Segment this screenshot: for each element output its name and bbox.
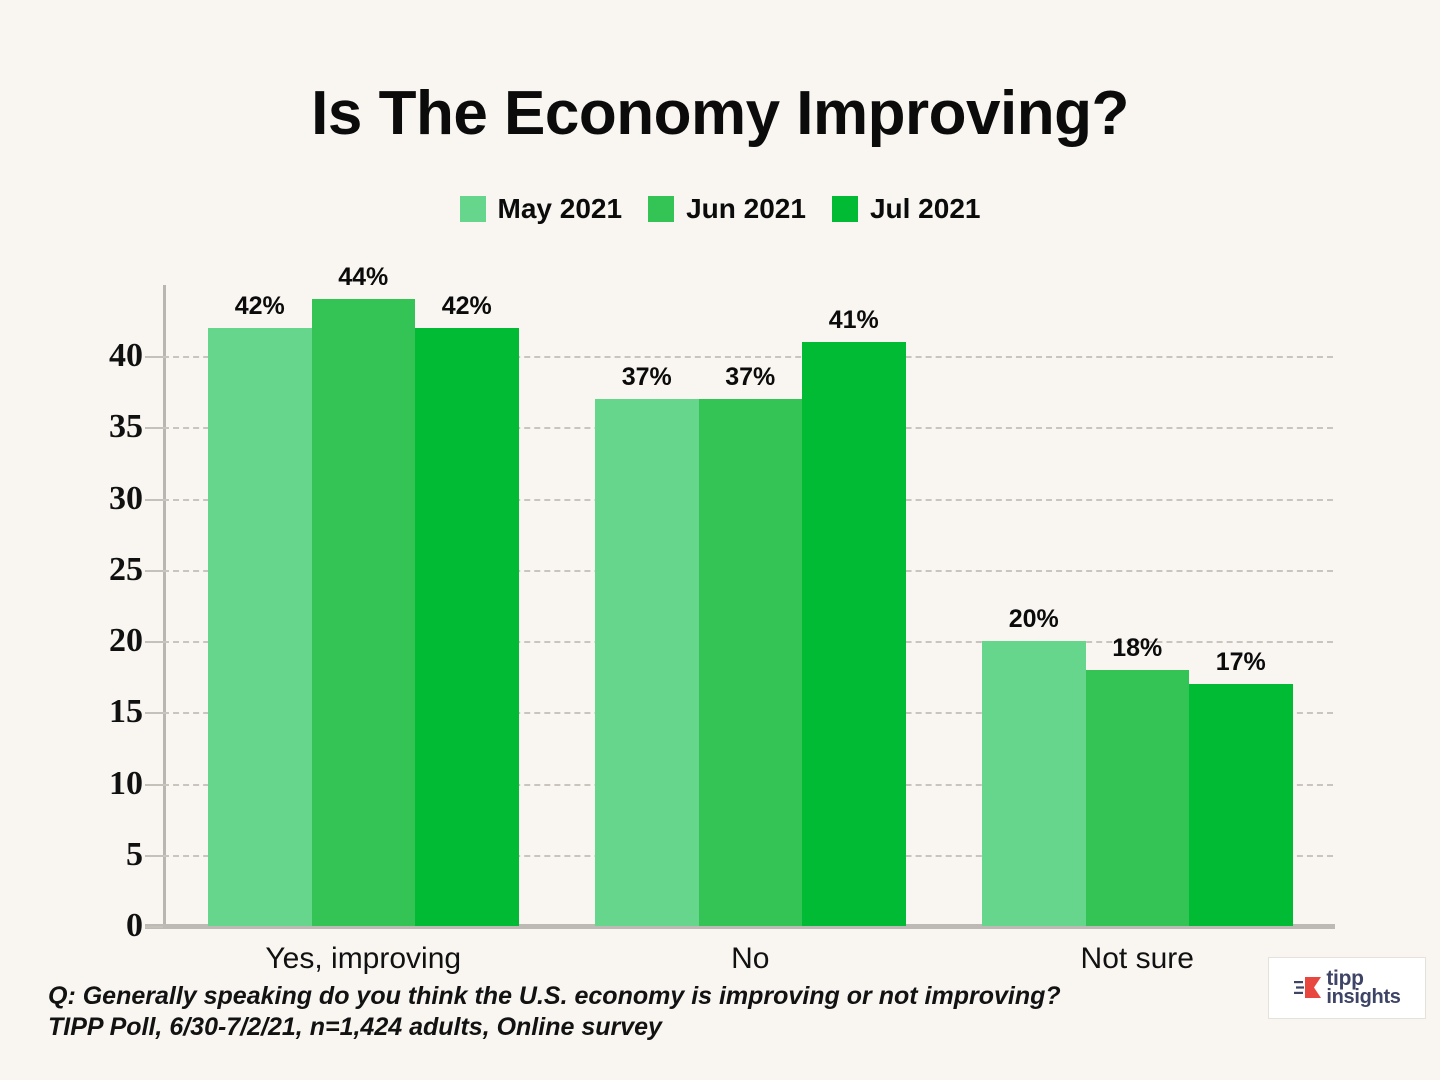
y-axis-tick-mark	[145, 855, 163, 857]
legend-swatch-icon	[460, 196, 486, 222]
tipp-arrow-flag-icon	[1293, 975, 1323, 1001]
bar-value-label: 41%	[829, 306, 879, 335]
footnote-source: TIPP Poll, 6/30-7/2/21, n=1,424 adults, …	[48, 1012, 1228, 1043]
y-axis-tick-label: 40	[23, 337, 143, 375]
y-axis-tick-mark	[145, 784, 163, 786]
bar[interactable]	[1189, 684, 1293, 926]
y-axis-tick-mark	[145, 926, 163, 928]
bar[interactable]	[312, 299, 416, 926]
bar[interactable]	[802, 342, 906, 926]
y-axis-tick-label: 25	[23, 551, 143, 589]
bar-value-label: 37%	[622, 363, 672, 392]
logo-wordmark: tipp insights	[1326, 969, 1400, 1007]
logo-inner: tipp insights	[1293, 969, 1400, 1007]
bar[interactable]	[415, 328, 519, 926]
bar-value-label: 17%	[1216, 648, 1266, 677]
bar-value-label: 42%	[235, 292, 285, 321]
y-axis-tick-label: 15	[23, 693, 143, 731]
legend-label: May 2021	[498, 193, 623, 225]
legend-item-jun-2021[interactable]: Jun 2021	[648, 193, 806, 225]
chart-legend: May 2021Jun 2021Jul 2021	[0, 193, 1440, 225]
bar-value-label: 18%	[1112, 634, 1162, 663]
bar[interactable]	[595, 399, 699, 926]
chart-title: Is The Economy Improving?	[0, 78, 1440, 149]
bar[interactable]	[699, 399, 803, 926]
footnote-question: Q: Generally speaking do you think the U…	[48, 981, 1228, 1012]
footnotes: Q: Generally speaking do you think the U…	[48, 981, 1228, 1043]
y-axis-tick-label: 35	[23, 408, 143, 446]
legend-label: Jul 2021	[870, 193, 981, 225]
legend-swatch-icon	[648, 196, 674, 222]
bar[interactable]	[208, 328, 312, 926]
y-axis-tick-mark	[145, 712, 163, 714]
y-axis-tick-label: 30	[23, 480, 143, 518]
y-axis-tick-label: 5	[23, 836, 143, 874]
x-axis-category-label: Yes, improving	[265, 942, 461, 976]
y-axis-tick-label: 10	[23, 765, 143, 803]
legend-swatch-icon	[832, 196, 858, 222]
tipp-insights-logo: tipp insights	[1268, 957, 1426, 1019]
legend-item-jul-2021[interactable]: Jul 2021	[832, 193, 981, 225]
y-axis-tick-label: 0	[23, 907, 143, 945]
bar-value-label: 20%	[1009, 605, 1059, 634]
y-axis-tick-mark	[145, 641, 163, 643]
x-axis-category-label: No	[731, 942, 769, 976]
bar-value-label: 44%	[338, 263, 388, 292]
bar[interactable]	[1086, 670, 1190, 926]
bar[interactable]	[982, 641, 1086, 926]
x-axis-category-label: Not sure	[1081, 942, 1194, 976]
y-axis-tick-label: 20	[23, 622, 143, 660]
logo-word-insights: insights	[1326, 988, 1400, 1007]
y-axis-tick-mark	[145, 499, 163, 501]
bar-value-label: 37%	[725, 363, 775, 392]
bar-value-label: 42%	[442, 292, 492, 321]
y-axis-tick-mark	[145, 570, 163, 572]
y-axis-tick-mark	[145, 427, 163, 429]
y-axis-tick-mark	[145, 356, 163, 358]
legend-label: Jun 2021	[686, 193, 806, 225]
legend-item-may-2021[interactable]: May 2021	[460, 193, 623, 225]
